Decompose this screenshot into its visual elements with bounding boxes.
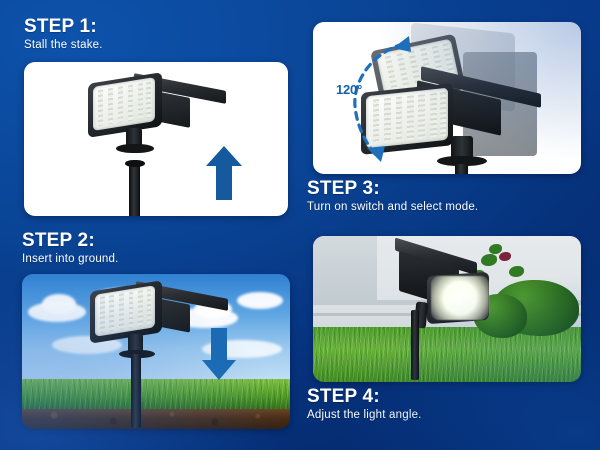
step-3-title: STEP 3: <box>307 178 478 199</box>
step-1-title: STEP 1: <box>24 16 103 37</box>
instruction-poster: STEP 1: Stall the stake. <box>0 0 600 450</box>
step-4-subtitle: Adjust the light angle. <box>307 408 422 423</box>
wall-recess <box>313 236 377 303</box>
step-2-image-card <box>22 274 290 429</box>
step-2-photo <box>22 274 290 429</box>
step-1-subtitle: Stall the stake. <box>24 38 103 53</box>
step-4-image-card <box>313 236 581 382</box>
step-2-subtitle: Insert into ground. <box>22 252 119 267</box>
step-1-illustration <box>24 62 288 216</box>
step-4-photo <box>313 236 581 382</box>
step-3-illustration: 120° <box>313 22 581 174</box>
step-2-heading: STEP 2: Insert into ground. <box>22 230 119 267</box>
arrow-down-icon <box>202 328 236 380</box>
light-glow <box>431 276 489 320</box>
step-3-heading: STEP 3: Turn on switch and select mode. <box>307 178 478 215</box>
step-1-heading: STEP 1: Stall the stake. <box>24 16 103 53</box>
step-4-title: STEP 4: <box>307 386 422 407</box>
step-3-image-card: 120° <box>313 22 581 174</box>
rotation-arrow-icon <box>331 28 431 168</box>
step-4-heading: STEP 4: Adjust the light angle. <box>307 386 422 423</box>
angle-annotation: 120° <box>336 82 362 97</box>
solar-lamp-icon <box>389 244 509 374</box>
step-2-title: STEP 2: <box>22 230 119 251</box>
arrow-up-icon <box>206 146 242 200</box>
step-1-image-card <box>24 62 288 216</box>
step-3-subtitle: Turn on switch and select mode. <box>307 200 478 215</box>
